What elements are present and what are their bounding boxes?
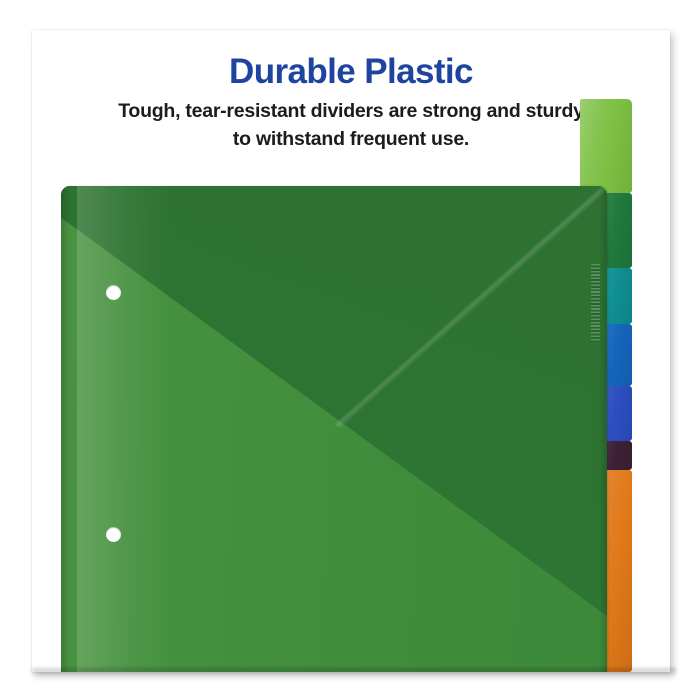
divider-gloss-band — [77, 186, 173, 672]
plastic-divider-sheet — [61, 186, 607, 672]
reinforced-edge-strip — [591, 264, 600, 342]
divider-binding-edge — [61, 186, 71, 672]
punch-hole-top — [106, 285, 121, 300]
product-image-canvas: Durable Plastic Tough, tear-resistant di… — [0, 0, 700, 700]
punch-hole-bottom — [106, 527, 121, 542]
card-drop-shadow — [32, 668, 676, 677]
divider-right-edge — [599, 186, 607, 672]
tab-1-sheen — [580, 99, 632, 193]
product-card: Durable Plastic Tough, tear-resistant di… — [32, 30, 670, 672]
tab-1[interactable] — [580, 99, 632, 193]
